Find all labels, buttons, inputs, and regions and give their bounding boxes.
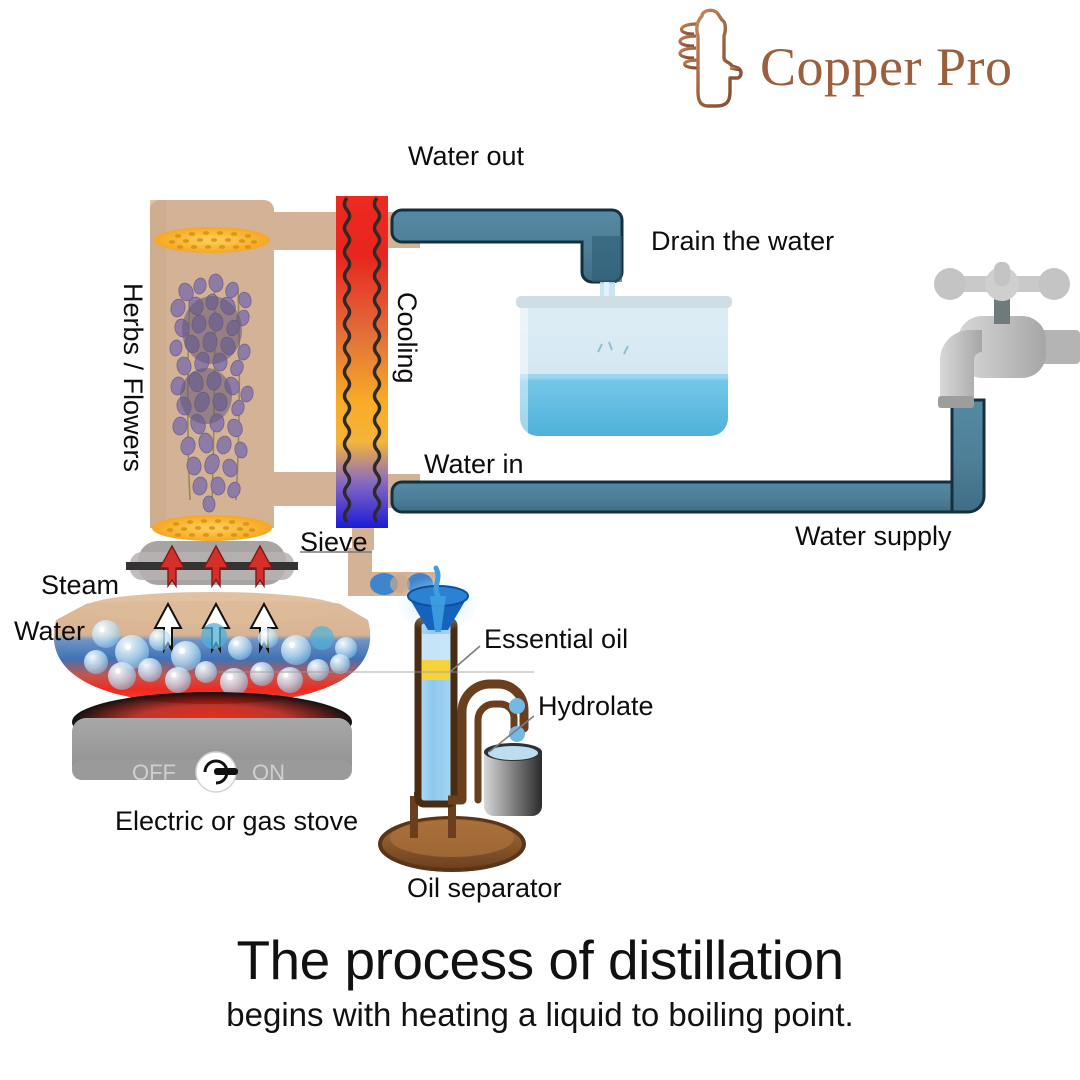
label-essential-oil: Essential oil (484, 626, 628, 653)
label-hydrolate: Hydrolate (538, 693, 654, 720)
label-water-in: Water in (424, 451, 524, 478)
sieve-plate-top (154, 227, 270, 253)
caption-headline: The process of distillation (0, 928, 1080, 992)
apparatus-illustration: OFF ON (0, 0, 1080, 930)
label-drain-the-water: Drain the water (651, 228, 834, 255)
label-stove: Electric or gas stove (115, 808, 358, 835)
label-water: Water (14, 618, 85, 645)
drain-basin (516, 296, 732, 436)
condenser-coil (336, 196, 388, 550)
sieve-plate-bottom (152, 515, 272, 541)
label-steam: Steam (41, 572, 119, 599)
stove[interactable]: OFF ON (72, 692, 352, 792)
label-oil-separator: Oil separator (407, 875, 562, 902)
label-water-supply: Water supply (795, 523, 952, 550)
label-cooling: Cooling (393, 292, 420, 384)
caption-subline: begins with heating a liquid to boiling … (0, 996, 1080, 1034)
label-sieve: Sieve (300, 529, 368, 556)
distillation-infographic: Copper Pro (0, 0, 1080, 1080)
oil-separator (380, 568, 542, 870)
water-out-pipe (392, 210, 622, 282)
hydrolate-cup (484, 743, 542, 816)
stove-off-label: OFF (132, 760, 176, 785)
label-water-out: Water out (408, 143, 524, 170)
stove-on-label: ON (252, 760, 285, 785)
essential-oil-layer (422, 660, 450, 680)
label-herbs-flowers: Herbs / Flowers (119, 283, 146, 472)
water-faucet[interactable] (934, 262, 1080, 408)
